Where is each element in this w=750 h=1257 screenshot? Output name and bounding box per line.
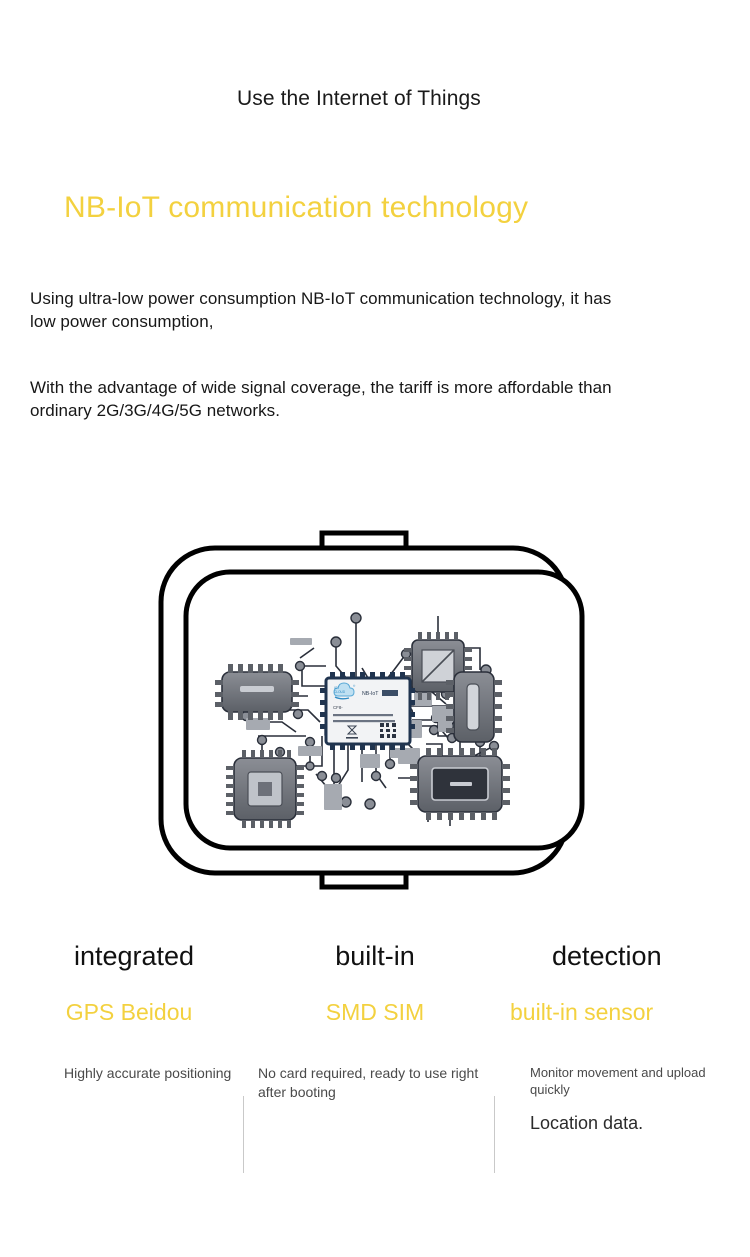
feature-title: integrated — [0, 940, 250, 972]
device-illustration: IOT CLOUD ® NB-IoT CF8- — [150, 530, 600, 890]
description-paragraph-2: With the advantage of wide signal covera… — [30, 376, 650, 422]
description-paragraph-1: Using ultra-low power consumption NB-IoT… — [30, 287, 630, 333]
ic-right-vertical — [446, 672, 502, 742]
ic-bottom-left-qfp — [226, 750, 304, 828]
feature-body: No card required, ready to use right aft… — [250, 1064, 483, 1102]
feature-title: built-in — [250, 940, 500, 972]
feature-column-built-in: built-in SMD SIM No card required, ready… — [250, 940, 500, 1102]
page-title: NB-IoT communication technology — [64, 188, 724, 228]
nbiot-module: IOT CLOUD ® NB-IoT CF8- — [320, 672, 415, 750]
feature-subtitle: built-in sensor — [498, 998, 748, 1026]
ic-bottom-right — [410, 748, 510, 820]
qr-code-icon — [380, 723, 396, 738]
svg-text:CLOUD: CLOUD — [334, 690, 346, 694]
feature-title: detection — [498, 940, 748, 972]
feature-body: Highly accurate positioning — [0, 1064, 234, 1083]
feature-body-extra: Location data. — [498, 1112, 748, 1134]
feature-subtitle: GPS Beidou — [0, 998, 250, 1026]
feature-body: Monitor movement and upload quickly — [498, 1064, 740, 1098]
module-label-text: NB-IoT — [362, 691, 379, 697]
column-divider-1 — [243, 1096, 244, 1173]
ic-left-dip — [215, 664, 299, 720]
column-divider-2 — [494, 1096, 495, 1173]
feature-column-detection: detection built-in sensor Monitor moveme… — [498, 940, 748, 1134]
eyebrow-text: Use the Internet of Things — [237, 86, 497, 111]
feature-subtitle: SMD SIM — [250, 998, 500, 1026]
feature-column-integrated: integrated GPS Beidou Highly accurate po… — [0, 940, 250, 1083]
module-code-text: CF8- — [333, 705, 343, 710]
feature-columns: integrated GPS Beidou Highly accurate po… — [0, 940, 750, 1190]
